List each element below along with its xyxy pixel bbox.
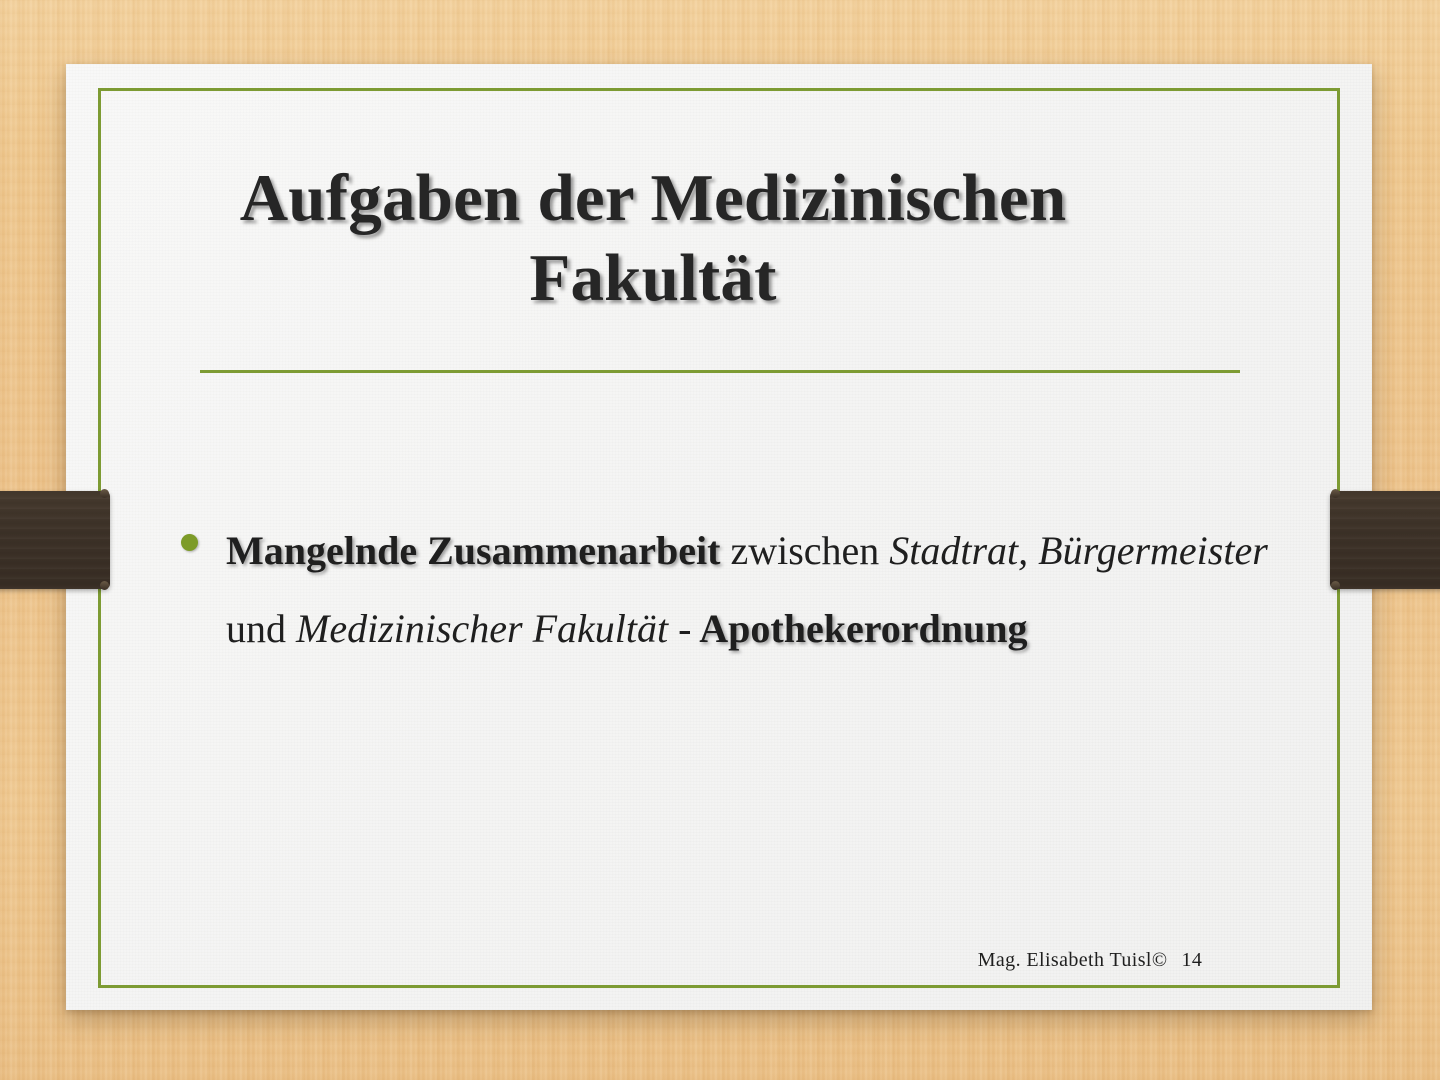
binder-clamp-right bbox=[1330, 491, 1440, 589]
footer-author: Mag. Elisabeth Tuisl bbox=[978, 949, 1152, 971]
slide-body: Mangelnde Zusammenarbeit zwischen Stadtr… bbox=[174, 512, 1289, 668]
slide-title: Aufgaben der Medizinischen Fakultät bbox=[150, 158, 1156, 319]
binder-clamp-left bbox=[0, 491, 110, 589]
bullet-segment-italic-2: Medizinischer Fakultät - bbox=[296, 606, 691, 651]
bullet-segment-italic-1: Stadtrat, Bürgermeister bbox=[889, 528, 1268, 573]
clamp-rivet-left-top bbox=[100, 489, 109, 498]
footer-credit: Mag. Elisabeth Tuisl©14 bbox=[900, 949, 1280, 972]
clamp-rivet-right-bottom bbox=[1331, 581, 1340, 590]
bullet-segment-bold-2: Apothekerordnung bbox=[691, 606, 1027, 651]
clamp-rivet-right-top bbox=[1331, 489, 1340, 498]
slide-stage: Aufgaben der Medizinischen Fakultät Mang… bbox=[0, 0, 1440, 1080]
bullet-item: Mangelnde Zusammenarbeit zwischen Stadtr… bbox=[174, 512, 1289, 668]
bullet-segment-bold-1: Mangelnde Zusammenarbeit bbox=[226, 528, 730, 573]
green-dot-bullet-icon bbox=[181, 534, 198, 551]
slide-title-line-2: Fakultät bbox=[150, 238, 1156, 318]
title-divider-rule bbox=[200, 370, 1240, 373]
bullet-segment-regular-1: zwischen bbox=[730, 528, 889, 573]
slide-title-line-1: Aufgaben der Medizinischen bbox=[150, 158, 1156, 238]
bullet-text: Mangelnde Zusammenarbeit zwischen Stadtr… bbox=[226, 512, 1289, 668]
bullet-segment-regular-2: und bbox=[226, 606, 296, 651]
clamp-rivet-left-bottom bbox=[100, 581, 109, 590]
copyright-icon: © bbox=[1152, 949, 1168, 971]
slide-page-number: 14 bbox=[1181, 949, 1202, 971]
